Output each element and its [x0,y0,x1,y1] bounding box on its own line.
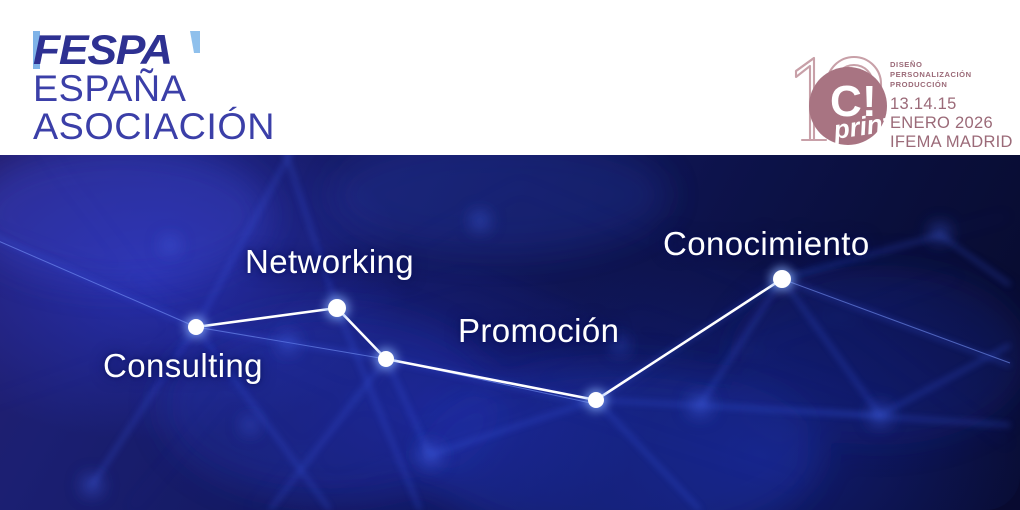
cprint-date-month: ENERO 2026 [890,114,995,133]
label-consulting: Consulting [103,347,263,385]
banner-panel: Consulting Networking Promoción Conocimi… [0,155,1020,510]
cprint-tagline-2: PERSONALIZACIÓN [890,70,995,80]
page-header: FESPA ESPAÑA ASOCIACIÓN C ! print [0,0,1020,155]
cprint-date-days: 13.14.15 [890,95,995,114]
fespa-wordmark: FESPA [33,28,172,72]
fespa-asociacion-line: ASOCIACIÓN [33,108,275,146]
banner-page: FESPA ESPAÑA ASOCIACIÓN C ! print [0,0,1020,510]
label-promocion: Promoción [458,312,619,350]
cprint-tagline-3: PRODUCCIÓN [890,80,995,90]
cprint-anniversary-mark: C ! print [788,44,896,150]
fespa-wordmark-text: FESPA [33,26,172,73]
fespa-espana-line: ESPAÑA [33,70,186,108]
cprint-logo[interactable]: C ! print DISEÑO PERSONALIZACIÓN PRODUCC… [788,44,993,152]
hero-banner: Consulting Networking Promoción Conocimi… [0,155,1020,510]
label-conocimiento: Conocimiento [663,225,870,263]
node-conocimiento [773,270,791,288]
cprint-info-block: DISEÑO PERSONALIZACIÓN PRODUCCIÓN 13.14.… [890,60,995,152]
fespa-accent-right-icon [190,31,200,53]
node-networking [328,299,346,317]
ten-one-inner [796,66,810,140]
cprint-venue: IFEMA MADRID [890,133,995,152]
label-networking: Networking [245,243,414,281]
cprint-tagline-1: DISEÑO [890,60,995,70]
node-promocion [588,392,604,408]
node-middle [378,351,394,367]
fespa-logo[interactable]: FESPA ESPAÑA ASOCIACIÓN [33,28,363,140]
cprint-dates-block: 13.14.15 ENERO 2026 IFEMA MADRID [890,95,995,152]
node-consulting [188,319,204,335]
